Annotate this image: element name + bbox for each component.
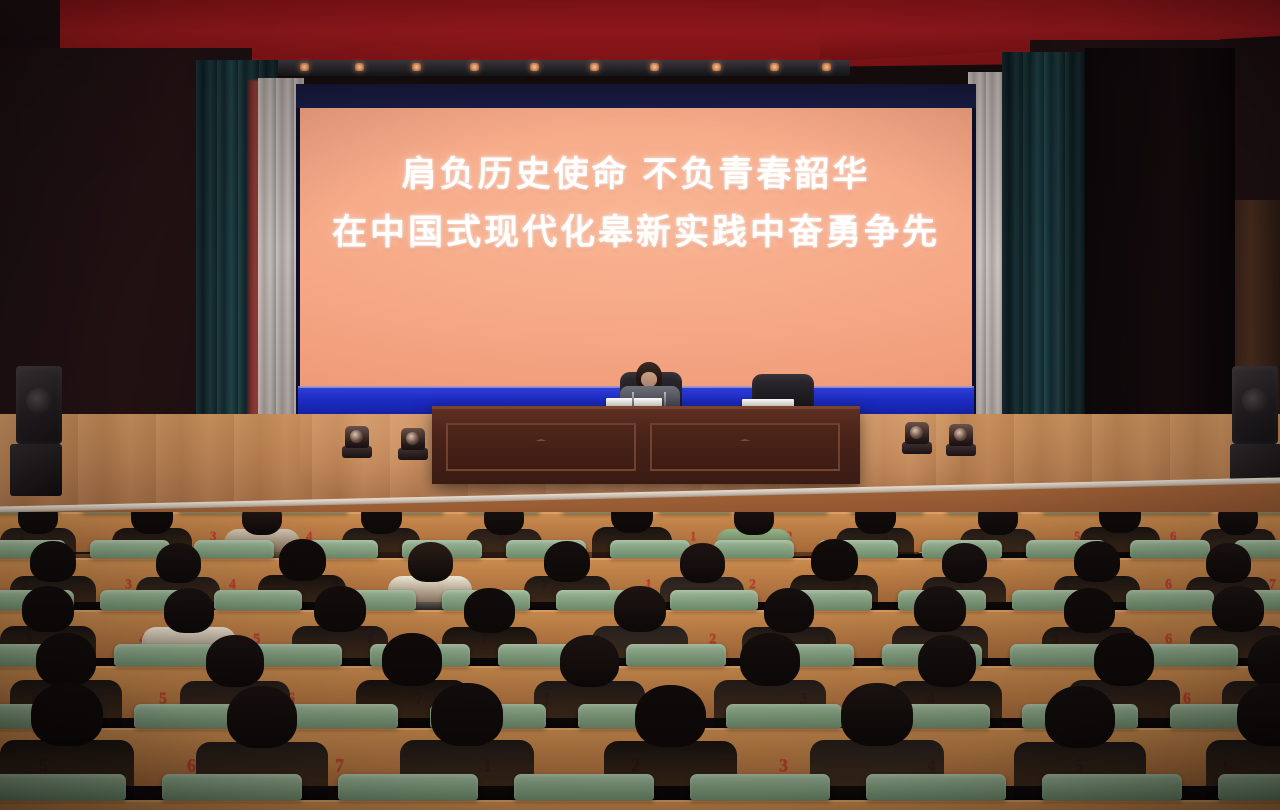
audience-head (978, 512, 1018, 535)
seat-cushion[interactable] (726, 704, 842, 728)
audience-head (764, 588, 814, 633)
podium-table (432, 406, 860, 484)
truss-lamp-2 (300, 63, 309, 71)
audience-head (382, 633, 442, 686)
seat-cushion[interactable] (274, 512, 348, 513)
audience-head (156, 543, 201, 583)
moving-head-light-3 (900, 420, 934, 456)
audience-head (484, 512, 524, 535)
audience-head (1218, 512, 1258, 535)
audience-head (1212, 586, 1264, 632)
seat-cushion[interactable] (626, 644, 726, 666)
seat-cushion[interactable] (338, 774, 478, 800)
seat-row[interactable] (0, 800, 1280, 810)
moving-head-light-2 (396, 426, 430, 462)
audience-head (31, 683, 103, 746)
slogan-line-2: 在中国式现代化皋新实践中奋勇争先 (300, 208, 972, 258)
pa-sub-left (10, 444, 62, 496)
seat-cushion[interactable] (162, 774, 302, 800)
audience-head (734, 512, 774, 535)
audience-head (841, 683, 913, 746)
seat-number: 6 (187, 755, 196, 776)
seat-cushion[interactable] (610, 540, 690, 558)
podium-panel-right (650, 423, 840, 471)
seat-number: 1 (690, 528, 697, 544)
audience-head (242, 512, 282, 535)
audience-head (1206, 543, 1251, 583)
audience-head (361, 512, 402, 534)
seat-cushion[interactable] (0, 774, 126, 800)
moving-head-lens (350, 430, 363, 443)
seat-number: 3 (779, 755, 788, 776)
microphone-left (632, 392, 634, 406)
seat-cushion[interactable] (714, 540, 794, 558)
seat-cushion[interactable] (1042, 774, 1182, 800)
audience-head (811, 539, 858, 581)
audience-head (464, 588, 515, 633)
audience-head (740, 633, 800, 686)
audience-head (206, 635, 264, 687)
audience-head (1064, 588, 1115, 633)
seat-cushion[interactable] (194, 540, 274, 558)
audience-head (1045, 686, 1115, 748)
auditorium-photo: 肩负历史使命 不负青春韶华 在中国式现代化皋新实践中奋勇争先 (0, 0, 1280, 810)
audience-head (431, 683, 503, 746)
audience-seating: 1234567123456712345671234567134567123456… (0, 512, 1280, 810)
truss-lamp-5 (470, 63, 479, 71)
truss-lamp-10 (770, 63, 779, 71)
audience-head (314, 586, 366, 632)
led-screen-top-band (296, 84, 976, 108)
seat-cushion[interactable] (866, 774, 1006, 800)
truss-lamp-7 (590, 63, 599, 71)
speaker-face (641, 372, 657, 387)
audience-head (614, 586, 666, 632)
podium-chevron-left (496, 439, 586, 455)
lighting-truss (230, 60, 850, 76)
truss-lamp-9 (712, 63, 721, 71)
seat-cushion[interactable] (1130, 540, 1210, 558)
truss-lamp-3 (355, 63, 364, 71)
seat-cushion[interactable] (658, 512, 732, 513)
audience-head (408, 542, 453, 582)
seat-cushion[interactable] (514, 774, 654, 800)
seat-cushion[interactable] (1126, 590, 1214, 610)
audience-head (36, 633, 96, 686)
seat-cushion[interactable] (690, 774, 830, 800)
slogan-line-1: 肩负历史使命 不负青春韶华 (300, 150, 972, 200)
truss-lamp-8 (650, 63, 659, 71)
microphone-right (664, 392, 666, 406)
audience-head (164, 588, 214, 633)
seat-cushion[interactable] (1218, 774, 1280, 800)
pa-cone-right (1242, 388, 1268, 414)
seat-cushion[interactable] (282, 704, 398, 728)
audience-head (942, 543, 987, 583)
audience-head (279, 539, 326, 581)
moving-head-lens (954, 428, 967, 441)
audience-head (560, 635, 619, 687)
audience-head (1074, 541, 1120, 582)
truss-lamp-4 (412, 63, 421, 71)
moving-head-light-4 (944, 422, 978, 458)
moving-head-lens (406, 432, 419, 445)
truss-lamp-6 (530, 63, 539, 71)
moving-head-light-1 (340, 424, 374, 460)
audience-head (855, 512, 896, 534)
seat-cushion[interactable] (114, 644, 214, 666)
seat-cushion[interactable] (1138, 512, 1212, 513)
audience-head (22, 586, 74, 632)
podium-panel-left (446, 423, 636, 471)
audience-head (635, 685, 706, 747)
podium-chevron-right (700, 439, 790, 455)
seat-number: 7 (335, 755, 344, 776)
audience-head (30, 541, 76, 582)
slogan-block: 肩负历史使命 不负青春韶华 在中国式现代化皋新实践中奋勇争先 (300, 150, 972, 258)
moving-head-lens (910, 426, 923, 439)
audience-head (18, 512, 58, 534)
audience-head (227, 686, 297, 748)
audience-head (680, 543, 725, 583)
audience-head (544, 541, 590, 582)
seat-cushion[interactable] (178, 512, 252, 513)
truss-lamp-11 (822, 63, 831, 71)
audience-head (918, 635, 976, 687)
audience-head (914, 586, 966, 632)
pa-cone-left (26, 388, 52, 414)
seat-cushion[interactable] (670, 590, 758, 610)
seat-cushion[interactable] (214, 590, 302, 610)
audience-head (1094, 633, 1154, 686)
